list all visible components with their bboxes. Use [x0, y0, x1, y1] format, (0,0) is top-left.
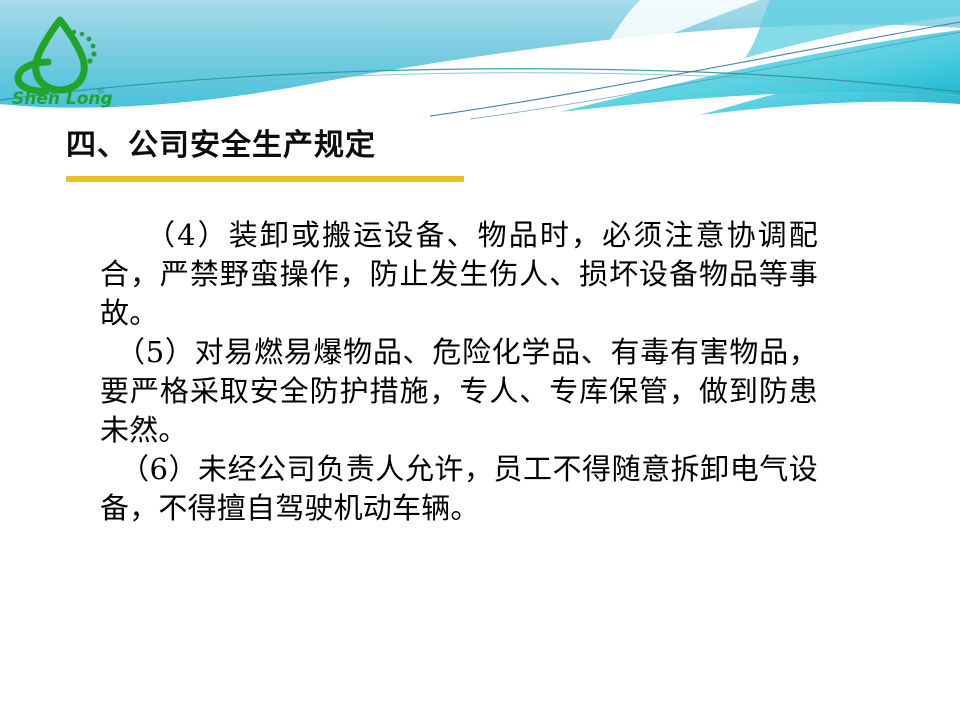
star-icon	[87, 37, 92, 42]
slide-body: （4）装卸或搬运设备、物品时，必须注意协调配合，严禁野蛮操作，防止发生伤人、损坏…	[100, 216, 818, 528]
star-icon	[72, 30, 76, 34]
star-icon	[80, 32, 84, 36]
body-paragraph-item-6: （6）未经公司负责人允许，员工不得随意拆卸电气设备，不得擅自驾驶机动车辆。	[100, 450, 818, 528]
star-icon	[91, 44, 96, 49]
title-block: 四、公司安全生产规定	[66, 126, 766, 182]
header-wave-banner	[0, 0, 960, 125]
star-icon	[87, 58, 92, 63]
title-underline-rule	[66, 176, 464, 182]
presentation-slide: Shen Long ® 四、公司安全生产规定 （4）装卸或搬运设备、物品时，必须…	[0, 0, 960, 720]
logo-graphic: Shen Long ®	[8, 12, 116, 108]
body-paragraph-item-5: （5）对易燃易爆物品、危险化学品、有毒有害物品，要严格采取安全防护措施，专人、专…	[100, 333, 818, 450]
body-paragraph-item-4: （4）装卸或搬运设备、物品时，必须注意协调配合，严禁野蛮操作，防止发生伤人、损坏…	[100, 216, 818, 333]
droplet-icon	[36, 20, 84, 90]
page-title: 四、公司安全生产规定	[66, 126, 766, 166]
star-icon	[91, 51, 96, 56]
registered-mark-icon: ®	[96, 87, 105, 97]
wave-graphic	[0, 0, 960, 125]
company-logo: Shen Long ®	[8, 12, 116, 108]
